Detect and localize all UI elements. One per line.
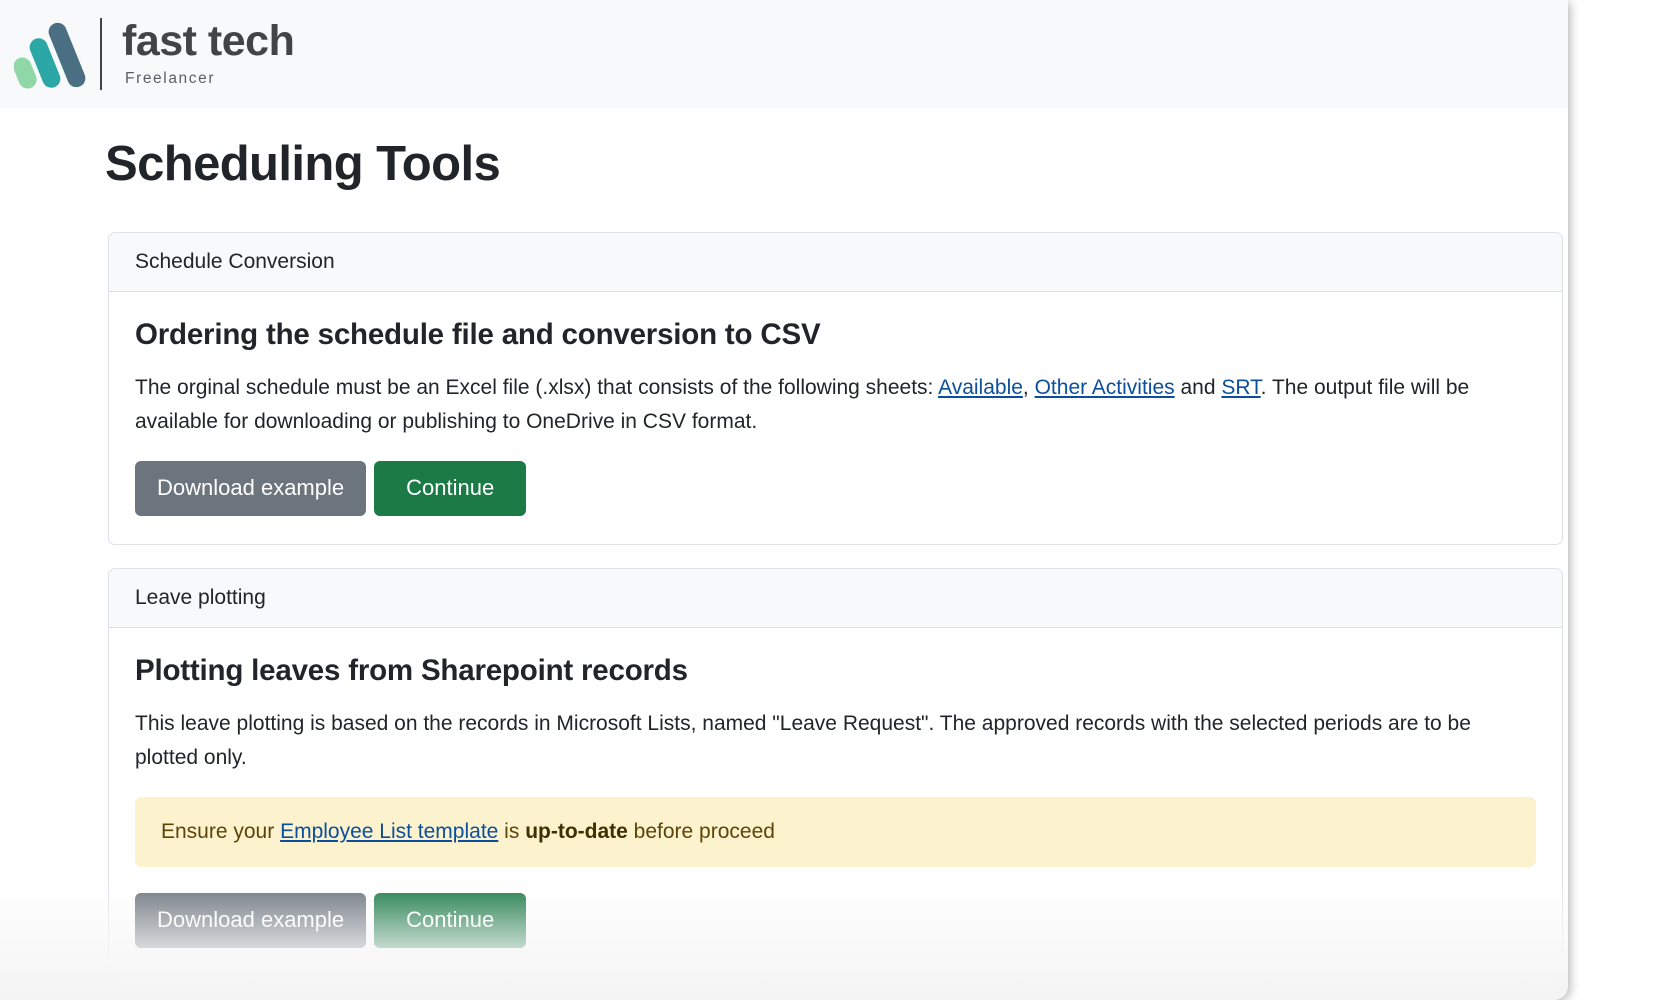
- description-sep-2: and: [1175, 376, 1222, 399]
- continue-button[interactable]: Continue: [374, 893, 526, 948]
- download-example-button[interactable]: Download example: [135, 461, 366, 516]
- card-stack: Schedule Conversion Ordering the schedul…: [108, 232, 1563, 977]
- alert-middle: is: [498, 820, 525, 843]
- brand-name: fast tech: [122, 20, 294, 63]
- card-body: Plotting leaves from Sharepoint records …: [109, 628, 1562, 976]
- continue-button[interactable]: Continue: [374, 461, 526, 516]
- description-part-1: The orginal schedule must be an Excel fi…: [135, 376, 938, 399]
- brand-text: fast tech Freelancer: [122, 20, 294, 88]
- button-row: Download example Continue: [135, 893, 1536, 948]
- brand-logo[interactable]: fast tech Freelancer: [14, 13, 294, 95]
- page-title: Scheduling Tools: [105, 136, 1568, 192]
- logo-divider: [100, 18, 102, 90]
- browser-surface: fast tech Freelancer Scheduling Tools Sc…: [0, 0, 1568, 1000]
- site-header: fast tech Freelancer: [0, 0, 1568, 108]
- alert-emphasis: up-to-date: [525, 820, 628, 843]
- card-body: Ordering the schedule file and conversio…: [109, 292, 1562, 544]
- card-schedule-conversion: Schedule Conversion Ordering the schedul…: [108, 232, 1563, 545]
- link-employee-list-template[interactable]: Employee List template: [280, 820, 498, 843]
- card-leave-plotting: Leave plotting Plotting leaves from Shar…: [108, 568, 1563, 977]
- three-bars-logo-icon: [14, 19, 86, 89]
- card-header-label: Schedule Conversion: [109, 233, 1562, 292]
- page-root: fast tech Freelancer Scheduling Tools Sc…: [0, 0, 1672, 1000]
- main-content: Scheduling Tools Schedule Conversion Ord…: [0, 108, 1568, 1000]
- card-title: Ordering the schedule file and conversio…: [135, 318, 1536, 352]
- card-header-label: Leave plotting: [109, 569, 1562, 628]
- description-sep-1: ,: [1023, 376, 1035, 399]
- link-available[interactable]: Available: [938, 376, 1023, 399]
- card-title: Plotting leaves from Sharepoint records: [135, 654, 1536, 688]
- link-other-activities[interactable]: Other Activities: [1035, 376, 1175, 399]
- link-srt[interactable]: SRT: [1221, 376, 1260, 399]
- alert-suffix: before proceed: [628, 820, 775, 843]
- card-description: This leave plotting is based on the reco…: [135, 707, 1475, 775]
- card-description: The orginal schedule must be an Excel fi…: [135, 371, 1475, 439]
- button-row: Download example Continue: [135, 461, 1536, 516]
- warning-alert: Ensure your Employee List template is up…: [135, 797, 1536, 867]
- alert-prefix: Ensure your: [161, 820, 280, 843]
- brand-subtitle: Freelancer: [125, 70, 294, 88]
- download-example-button[interactable]: Download example: [135, 893, 366, 948]
